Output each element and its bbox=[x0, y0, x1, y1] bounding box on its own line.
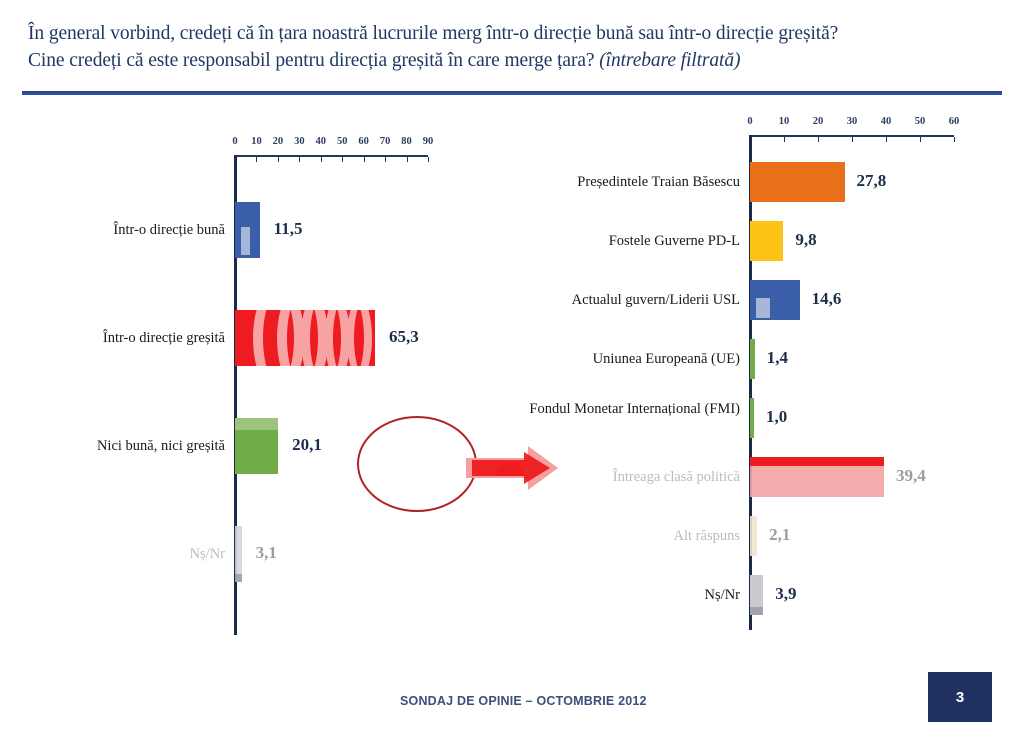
bar-cap bbox=[750, 457, 884, 466]
axis-tick-mark bbox=[784, 137, 785, 142]
title-line-2: Cine credeți că este responsabil pentru … bbox=[28, 47, 988, 74]
slide: În general vorbind, credeți că în țara n… bbox=[0, 0, 1023, 747]
axis-tick-mark bbox=[342, 157, 343, 162]
axis-tick-label: 0 bbox=[232, 136, 237, 147]
title-divider bbox=[22, 91, 1002, 95]
axis-tick-label: 50 bbox=[337, 136, 348, 147]
axis-tick-label: 70 bbox=[380, 136, 391, 147]
chart-row: Alt răspuns2,1 bbox=[500, 516, 1023, 556]
axis-tick-label: 30 bbox=[294, 136, 305, 147]
page-number-badge: 3 bbox=[928, 672, 992, 722]
chart-row: Nș/Nr3,1 bbox=[0, 526, 500, 582]
chart-row: Actualul guvern/Liderii USL14,6 bbox=[500, 280, 1023, 320]
category-label: Într-o direcție bună bbox=[15, 221, 225, 239]
chart-row: Fondul Monetar Internațional (FMI)1,0 bbox=[500, 398, 1023, 438]
axis-tick-mark bbox=[364, 157, 365, 162]
value-label: 9,8 bbox=[795, 230, 816, 250]
value-label: 27,8 bbox=[857, 171, 887, 191]
chart-row: Într-o direcție greșită65,3 bbox=[0, 310, 500, 366]
chart-right-responsible: 0102030405060 Președintele Traian Băsesc… bbox=[500, 110, 1023, 640]
axis-tick-label: 20 bbox=[813, 116, 824, 127]
bar bbox=[750, 221, 783, 261]
axis-tick-label: 10 bbox=[251, 136, 262, 147]
bar bbox=[750, 162, 845, 202]
axis-tick-label: 60 bbox=[949, 116, 960, 127]
chart-row: Fostele Guverne PD-L9,8 bbox=[500, 221, 1023, 261]
value-label: 2,1 bbox=[769, 525, 790, 545]
bar-ripple bbox=[235, 310, 375, 366]
footer-caption: SONDAJ DE OPINIE – OCTOMBRIE 2012 bbox=[400, 694, 647, 708]
bar bbox=[750, 339, 755, 379]
value-label: 3,1 bbox=[256, 543, 277, 563]
ripple-arc bbox=[347, 310, 375, 366]
right-axis-line bbox=[750, 135, 954, 137]
axis-tick-mark bbox=[428, 157, 429, 162]
bar bbox=[750, 398, 754, 438]
category-label: Fondul Monetar Internațional (FMI) bbox=[504, 400, 740, 418]
category-label: Nici bună, nici greșită bbox=[15, 437, 225, 455]
category-label: Fostele Guverne PD-L bbox=[504, 232, 740, 250]
category-label: Într-o direcție greșită bbox=[15, 329, 225, 347]
title-line-2-italic: (întrebare filtrată) bbox=[599, 50, 740, 71]
category-label: Uniunea Europeană (UE) bbox=[504, 350, 740, 368]
axis-tick-mark bbox=[407, 157, 408, 162]
axis-tick-label: 40 bbox=[316, 136, 327, 147]
axis-tick-label: 0 bbox=[747, 116, 752, 127]
value-label: 65,3 bbox=[389, 327, 419, 347]
axis-tick-label: 20 bbox=[273, 136, 284, 147]
page-title: În general vorbind, credeți că în țara n… bbox=[28, 20, 988, 74]
axis-tick-label: 30 bbox=[847, 116, 858, 127]
value-label: 11,5 bbox=[274, 219, 303, 239]
category-label: Președintele Traian Băsescu bbox=[504, 173, 740, 191]
value-label: 1,4 bbox=[767, 348, 788, 368]
value-label: 14,6 bbox=[812, 289, 842, 309]
chart-row: Nș/Nr3,9 bbox=[500, 575, 1023, 615]
chart-row: Președintele Traian Băsescu27,8 bbox=[500, 162, 1023, 202]
bar-sheen bbox=[241, 227, 250, 255]
bar-cap bbox=[750, 607, 763, 615]
title-line-1: În general vorbind, credeți că în țara n… bbox=[28, 20, 988, 47]
category-label: Nș/Nr bbox=[15, 545, 225, 563]
category-label: Actualul guvern/Liderii USL bbox=[504, 291, 740, 309]
callout-ellipse-65-3 bbox=[357, 416, 477, 512]
axis-tick-label: 60 bbox=[358, 136, 369, 147]
axis-tick-label: 40 bbox=[881, 116, 892, 127]
axis-tick-mark bbox=[818, 137, 819, 142]
axis-tick-label: 90 bbox=[423, 136, 434, 147]
left-axis-line bbox=[235, 155, 428, 157]
chart-left-direction: 0102030405060708090 Într-o direcție bună… bbox=[0, 130, 500, 640]
axis-tick-label: 10 bbox=[779, 116, 790, 127]
chart-row: Întreaga clasă politică39,4 bbox=[500, 457, 1023, 497]
axis-tick-mark bbox=[385, 157, 386, 162]
axis-tick-mark bbox=[278, 157, 279, 162]
axis-tick-mark bbox=[886, 137, 887, 142]
chart-row: Într-o direcție bună11,5 bbox=[0, 202, 500, 258]
bar-sheen bbox=[235, 418, 278, 430]
title-line-2-main: Cine credeți că este responsabil pentru … bbox=[28, 50, 599, 71]
category-label: Alt răspuns bbox=[504, 527, 740, 545]
category-label: Nș/Nr bbox=[504, 586, 740, 604]
value-label: 3,9 bbox=[775, 584, 796, 604]
value-label: 20,1 bbox=[292, 435, 322, 455]
chart-row: Uniunea Europeană (UE)1,4 bbox=[500, 339, 1023, 379]
axis-tick-mark bbox=[954, 137, 955, 142]
value-label: 1,0 bbox=[766, 407, 787, 427]
axis-tick-mark bbox=[920, 137, 921, 142]
axis-tick-mark bbox=[299, 157, 300, 162]
axis-tick-mark bbox=[852, 137, 853, 142]
value-label: 39,4 bbox=[896, 466, 926, 486]
bar bbox=[750, 516, 757, 556]
page-number: 3 bbox=[956, 689, 964, 706]
axis-tick-label: 50 bbox=[915, 116, 926, 127]
axis-tick-mark bbox=[321, 157, 322, 162]
category-label: Întreaga clasă politică bbox=[504, 468, 740, 486]
axis-tick-label: 80 bbox=[401, 136, 412, 147]
axis-tick-mark bbox=[256, 157, 257, 162]
bar-cap bbox=[235, 574, 242, 582]
bar-sheen bbox=[756, 298, 770, 318]
